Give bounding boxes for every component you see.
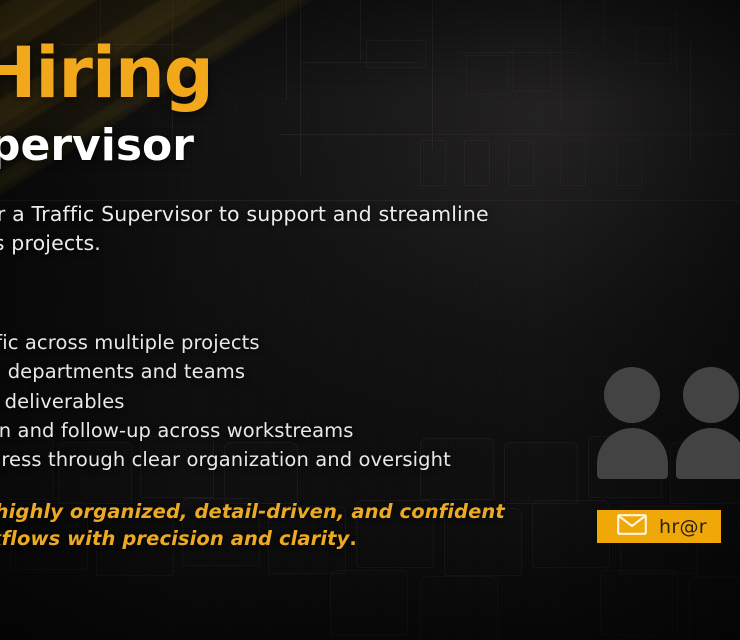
closing-line-2: aced workflows with precision and clarit… [0, 525, 588, 552]
closing-line-2-text: aced workflows with precision and clarit… [0, 527, 349, 550]
headline: e Hiring [0, 38, 213, 108]
intro-line-1: ing for a Traffic Supervisor to support … [0, 200, 598, 229]
job-title: Supervisor [0, 124, 194, 168]
closing-line-1: someone highly organized, detail-driven,… [0, 498, 588, 525]
email-contact-badge[interactable]: hr@r [597, 510, 721, 543]
list-item: iorities, and deliverables [0, 387, 582, 416]
closing-statement: someone highly organized, detail-driven,… [0, 498, 588, 552]
people-icon [597, 367, 740, 479]
poster-content: e Hiring Supervisor ing for a Traffic Su… [0, 0, 740, 640]
person-head-icon [604, 367, 660, 423]
hiring-poster: e Hiring Supervisor ing for a Traffic Su… [0, 0, 740, 640]
person-body-icon [597, 428, 668, 479]
email-address: hr@r [659, 516, 707, 538]
list-item: orkflow traffic across multiple projects [0, 328, 582, 357]
closing-period: . [349, 527, 357, 550]
responsibilities-list: orkflow traffic across multiple projects… [0, 328, 582, 474]
person-head-icon [683, 367, 739, 423]
list-item: mmunication and follow-up across workstr… [0, 416, 582, 445]
list-item: ow between departments and teams [0, 357, 582, 386]
intro-line-2: across projects. [0, 229, 598, 258]
list-item: project progress through clear organizat… [0, 445, 582, 474]
envelope-icon [617, 514, 647, 539]
intro-paragraph: ing for a Traffic Supervisor to support … [0, 200, 598, 258]
person-body-icon [676, 428, 740, 479]
